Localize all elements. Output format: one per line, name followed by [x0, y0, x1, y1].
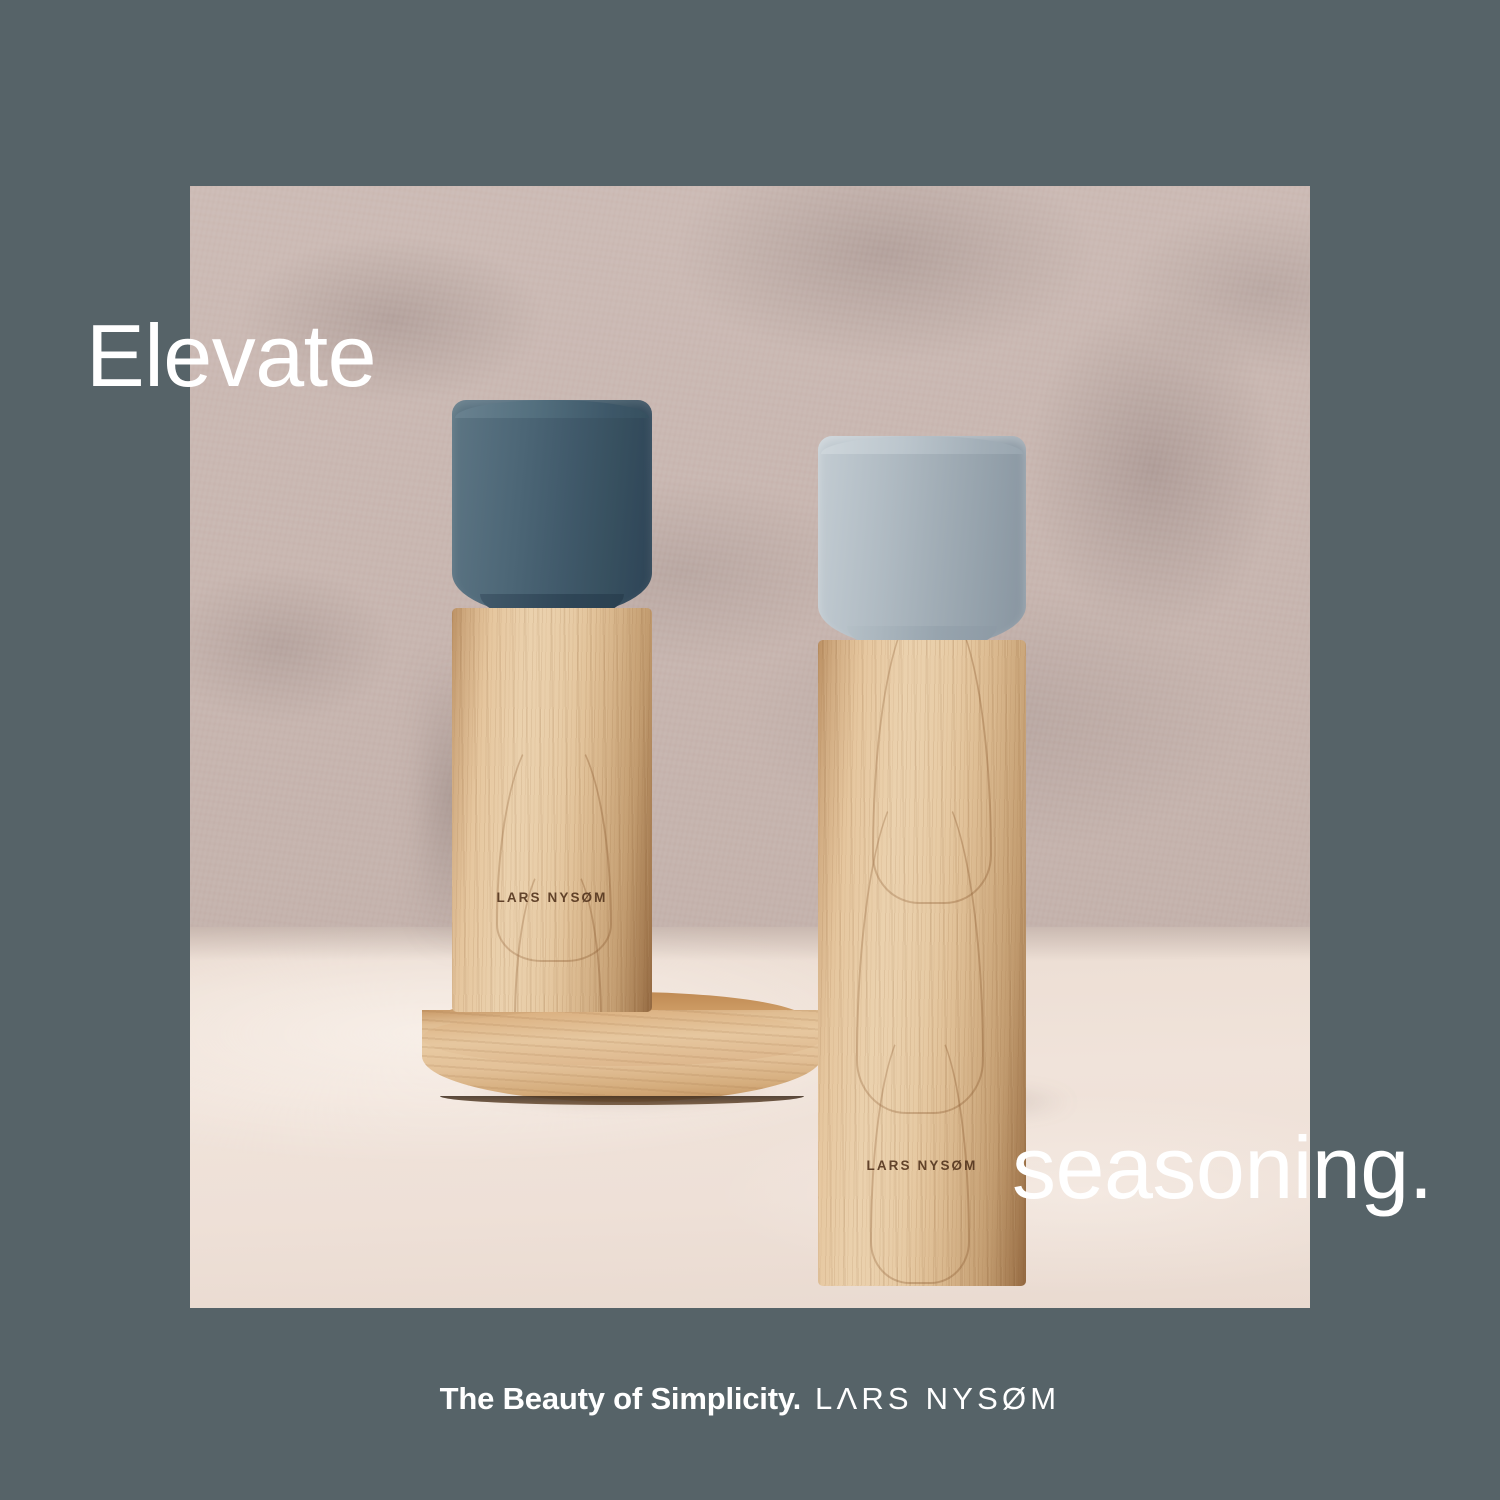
brand-mark-right: LARS NYSØM — [818, 1158, 1026, 1173]
light-blue-ceramic-cap — [818, 436, 1026, 648]
wall-table-horizon — [190, 927, 1310, 961]
dark-blue-ceramic-cap — [452, 400, 652, 616]
footer-tagline: The Beauty of Simplicity. — [440, 1381, 801, 1417]
ad-frame: LARS NYSØM LARS NYSØM Elevate seasoning.… — [0, 0, 1500, 1500]
salt-mill: LARS NYSØM — [818, 436, 1026, 1284]
headline-elevate: Elevate — [86, 312, 376, 400]
pepper-mill: LARS NYSØM — [452, 400, 652, 1210]
footer-bar: The Beauty of Simplicity. LΛRS NYSØM — [0, 1368, 1500, 1430]
headline-seasoning: seasoning. — [1012, 1124, 1433, 1212]
cap-top-surface — [455, 400, 649, 418]
background-wall — [190, 186, 1310, 927]
brand-mark-left: LARS NYSØM — [452, 890, 652, 905]
beech-wood-body: LARS NYSØM — [818, 640, 1026, 1286]
wood-shading — [818, 640, 1026, 1286]
beech-wood-body: LARS NYSØM — [452, 608, 652, 1012]
cap-top-surface — [821, 436, 1023, 454]
brand-logo: LΛRS NYSØM — [815, 1381, 1060, 1417]
wood-shading — [452, 608, 652, 1012]
wall-texture — [190, 186, 1310, 927]
